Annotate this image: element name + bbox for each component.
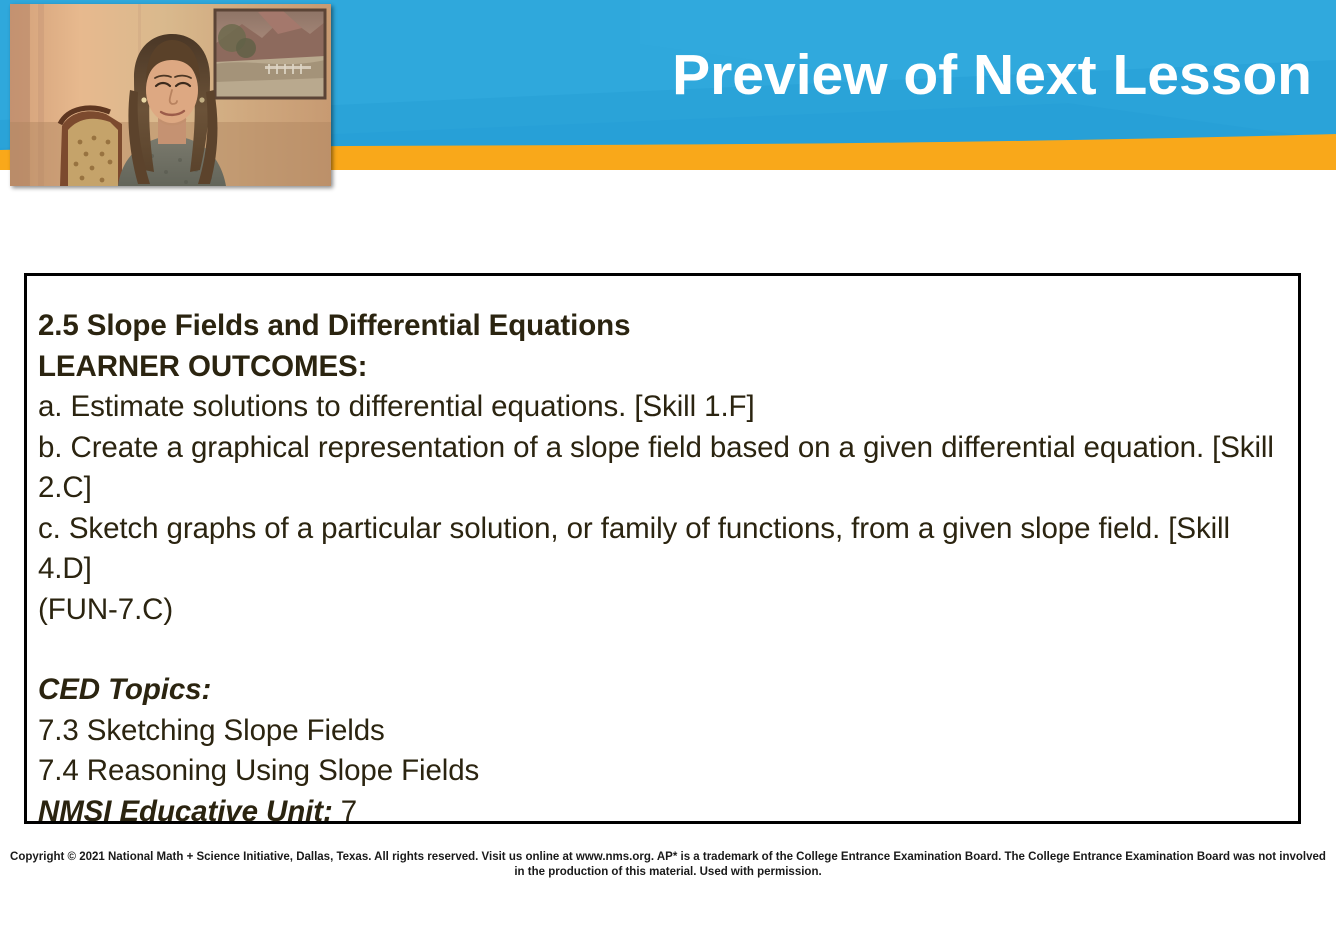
learner-outcome-b: b. Create a graphical representation of …	[38, 428, 1288, 509]
paragraph-spacer	[38, 630, 1288, 670]
ced-topic-7-3: 7.3 Sketching Slope Fields	[38, 711, 1288, 752]
chair	[60, 108, 122, 186]
page-title: Preview of Next Lesson	[672, 46, 1312, 106]
learner-outcome-a: a. Estimate solutions to differential eq…	[38, 387, 1288, 428]
wall-painting	[215, 10, 325, 98]
copyright-footer: Copyright © 2021 National Math + Science…	[0, 850, 1336, 880]
nmsi-educative-unit-value: 7	[341, 795, 357, 828]
lesson-outcomes-text: 2.5 Slope Fields and Differential Equati…	[38, 306, 1288, 832]
ced-topics-label: CED Topics:	[38, 670, 1288, 711]
webcam-video-image	[10, 4, 331, 186]
nmsi-educative-unit-value-spacer	[333, 795, 341, 828]
learner-outcome-fun-code: (FUN-7.C)	[38, 590, 1288, 631]
nmsi-educative-unit-row: NMSI Educative Unit: 7	[38, 792, 1288, 833]
presenter-webcam-thumbnail[interactable]	[10, 4, 331, 186]
learner-outcomes-label: LEARNER OUTCOMES:	[38, 347, 1288, 388]
nmsi-educative-unit-label: NMSI Educative Unit:	[38, 795, 333, 828]
ced-topic-7-4: 7.4 Reasoning Using Slope Fields	[38, 751, 1288, 792]
lesson-preview-content-box: 2.5 Slope Fields and Differential Equati…	[24, 273, 1301, 824]
learner-outcome-c: c. Sketch graphs of a particular solutio…	[38, 509, 1288, 590]
lesson-heading: 2.5 Slope Fields and Differential Equati…	[38, 306, 1288, 347]
